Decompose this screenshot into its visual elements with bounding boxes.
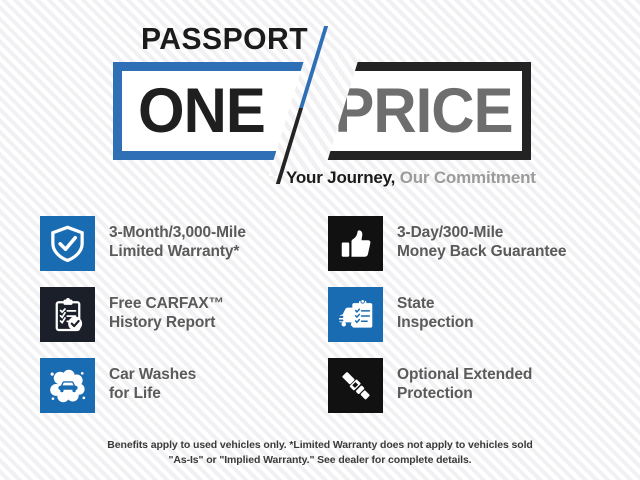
brand-logo-lockup: PASSPORT ONE PRICE Your Journey, Our Com…: [0, 0, 640, 200]
footer-disclaimer-line1: Benefits apply to used vehicles only. *L…: [0, 438, 640, 453]
benefit-item-limited-warranty: 3-Month/3,000-Mile Limited Warranty*: [40, 216, 328, 287]
benefit-icon-tile: [40, 358, 95, 413]
benefit-label-line1: 3-Month/3,000-Mile: [109, 224, 246, 243]
word-one: ONE: [138, 79, 265, 143]
benefit-label: 3-Month/3,000-Mile Limited Warranty*: [109, 216, 246, 261]
benefit-item-money-back-guarantee: 3-Day/300-Mile Money Back Guarantee: [328, 216, 610, 287]
benefit-icon-tile: [40, 287, 95, 342]
benefit-icon-tile: [328, 216, 383, 271]
benefit-label-line2: Limited Warranty*: [109, 243, 246, 262]
footer-disclaimer-line2: "As-Is" or "Implied Warranty." See deale…: [0, 453, 640, 468]
benefits-grid: 3-Month/3,000-Mile Limited Warranty* 3-D…: [40, 216, 610, 429]
benefit-item-optional-extended-protection: Optional Extended Protection: [328, 358, 610, 429]
clipboard-check-icon: [50, 297, 86, 333]
benefit-label-line1: Free CARFAX™: [109, 295, 224, 314]
benefit-label-line1: Optional Extended: [397, 366, 532, 385]
seatbelt-buckle-icon: [338, 368, 374, 404]
tagline-light-part: Our Commitment: [395, 168, 536, 187]
benefit-icon-tile: [328, 358, 383, 413]
benefit-icon-tile: [40, 216, 95, 271]
benefit-icon-tile: [328, 287, 383, 342]
benefit-label-line2: Inspection: [397, 314, 474, 333]
passport-one-price-promo-graphic: PASSPORT ONE PRICE Your Journey, Our Com…: [0, 0, 640, 480]
brand-name-passport: PASSPORT: [141, 22, 308, 56]
benefit-item-state-inspection: State Inspection: [328, 287, 610, 358]
benefit-label-line1: 3-Day/300-Mile: [397, 224, 566, 243]
benefit-label: Optional Extended Protection: [397, 358, 532, 403]
benefit-label: Car Washes for Life: [109, 358, 196, 403]
car-clipboard-inspection-icon: [336, 297, 376, 333]
benefit-label-line2: Protection: [397, 385, 532, 404]
word-price: PRICE: [335, 79, 513, 143]
benefit-label: 3-Day/300-Mile Money Back Guarantee: [397, 216, 566, 261]
car-wash-suds-icon: [48, 367, 88, 405]
benefit-label: State Inspection: [397, 287, 474, 332]
brand-tagline: Your Journey, Our Commitment: [286, 167, 536, 189]
benefit-item-carfax-history-report: Free CARFAX™ History Report: [40, 287, 328, 358]
footer-disclaimer: Benefits apply to used vehicles only. *L…: [0, 438, 640, 468]
benefit-item-car-washes-for-life: Car Washes for Life: [40, 358, 328, 429]
benefit-label: Free CARFAX™ History Report: [109, 287, 224, 332]
benefit-label-line2: Money Back Guarantee: [397, 243, 566, 262]
price-word-inner-panel: PRICE: [327, 71, 522, 151]
benefit-label-line1: State: [397, 295, 474, 314]
shield-check-icon: [49, 225, 86, 262]
benefit-label-line2: History Report: [109, 314, 224, 333]
benefit-label-line2: for Life: [109, 385, 196, 404]
tagline-bold-part: Your Journey,: [286, 168, 395, 187]
thumbs-up-icon: [338, 226, 374, 262]
benefit-label-line1: Car Washes: [109, 366, 196, 385]
